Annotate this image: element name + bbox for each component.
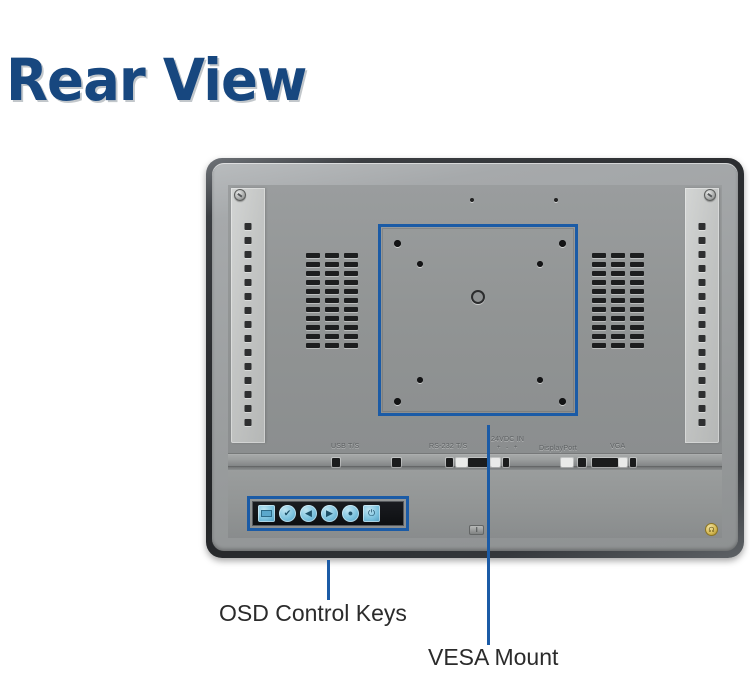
osd-control-highlight-box	[247, 496, 409, 531]
side-vent-hole	[699, 223, 706, 230]
vent-slot	[611, 334, 625, 339]
vent-slot	[592, 298, 606, 303]
vent-slot	[611, 298, 625, 303]
port-label-rs232: RS-232 T/S	[429, 443, 467, 450]
side-vent-hole	[245, 223, 252, 230]
vent-slot	[611, 325, 625, 330]
vent-slot	[344, 316, 358, 321]
right-vent-grid	[592, 253, 644, 348]
vent-slot	[592, 280, 606, 285]
vesa-hole-outer-tl	[394, 240, 401, 247]
port-label-power-pins: + - +	[497, 445, 519, 451]
side-vent-hole	[699, 391, 706, 398]
vent-slot	[592, 271, 606, 276]
connector-usb-2	[392, 458, 401, 467]
side-vent-hole	[245, 363, 252, 370]
vent-slot	[611, 253, 625, 258]
side-vent-hole	[699, 405, 706, 412]
side-vent-hole	[245, 293, 252, 300]
ground-terminal-icon: ☊	[705, 523, 718, 536]
vent-slot	[592, 289, 606, 294]
vent-slot	[611, 316, 625, 321]
vent-slot	[630, 280, 644, 285]
page-title: Rear View	[6, 46, 306, 114]
side-vent-hole	[245, 419, 252, 426]
vent-slot	[592, 253, 606, 258]
vent-slot	[306, 343, 320, 348]
vent-slot	[344, 334, 358, 339]
side-vent-hole	[245, 349, 252, 356]
connector-vga	[592, 458, 618, 467]
vent-slot	[306, 298, 320, 303]
vent-slot	[325, 271, 339, 276]
connector-displayport	[578, 458, 586, 467]
vesa-hole-outer-bl	[394, 398, 401, 405]
vent-slot	[592, 307, 606, 312]
side-vent-hole	[245, 279, 252, 286]
vent-slot	[325, 262, 339, 267]
vent-slot	[325, 316, 339, 321]
side-vent-hole	[699, 419, 706, 426]
side-vent-hole	[245, 321, 252, 328]
vent-slot	[630, 343, 644, 348]
vent-slot	[325, 334, 339, 339]
vent-slot	[325, 280, 339, 285]
vesa-leader-line	[487, 425, 490, 645]
bottom-center-mount	[469, 525, 484, 535]
page-canvas: Rear View	[0, 0, 750, 680]
vent-slot	[344, 307, 358, 312]
vent-slot	[630, 253, 644, 258]
vesa-hole-inner-br	[537, 377, 543, 383]
left-side-vent-strip	[231, 188, 265, 443]
side-vent-hole	[699, 251, 706, 258]
vent-slot	[325, 298, 339, 303]
vent-slot	[344, 325, 358, 330]
vent-slot	[630, 289, 644, 294]
vesa-hole-inner-tl	[417, 261, 423, 267]
side-vent-hole	[245, 377, 252, 384]
osd-leader-line	[327, 560, 330, 600]
vent-slot	[592, 262, 606, 267]
vent-slot	[592, 343, 606, 348]
vent-slot	[325, 253, 339, 258]
vent-slot	[592, 316, 606, 321]
vesa-hole-inner-tr	[537, 261, 543, 267]
vent-slot	[611, 262, 625, 267]
connector-power	[503, 458, 509, 467]
side-vent-hole	[245, 251, 252, 258]
vesa-center-hole	[471, 290, 485, 304]
left-vent-grid	[306, 253, 358, 348]
vent-slot	[611, 280, 625, 285]
vent-slot	[306, 280, 320, 285]
monitor-rear-illustration: USB T/S RS-232 T/S 24VDC IN + - + Displa…	[206, 158, 744, 558]
vent-slot	[630, 316, 644, 321]
side-vent-hole	[245, 405, 252, 412]
side-vent-hole	[699, 307, 706, 314]
right-side-vent-strip	[685, 188, 719, 443]
side-vent-hole	[245, 335, 252, 342]
vent-slot	[592, 325, 606, 330]
vent-slot	[611, 271, 625, 276]
vent-slot	[306, 289, 320, 294]
vent-slot	[325, 289, 339, 294]
side-vent-hole	[245, 307, 252, 314]
port-label-usb: USB T/S	[331, 443, 360, 450]
port-label-power: 24VDC IN	[491, 436, 524, 443]
vent-slot	[344, 262, 358, 267]
vent-slot	[344, 271, 358, 276]
connector-usb-1	[332, 458, 340, 467]
vesa-mount-highlight-box	[378, 224, 578, 416]
port-label-displayport: DisplayPort	[539, 445, 577, 452]
vent-slot	[630, 298, 644, 303]
screw-top-left	[234, 189, 246, 201]
connector-displayport-shell	[561, 458, 573, 467]
top-dot-right	[554, 198, 558, 202]
vent-slot	[344, 343, 358, 348]
connector-rs232-1	[446, 458, 453, 467]
side-vent-hole	[699, 321, 706, 328]
port-label-vga: VGA	[610, 443, 625, 450]
side-vent-hole	[699, 265, 706, 272]
vent-slot	[344, 280, 358, 285]
vent-slot	[325, 307, 339, 312]
side-vent-hole	[699, 377, 706, 384]
side-vent-hole	[699, 363, 706, 370]
vent-slot	[344, 289, 358, 294]
vent-slot	[306, 316, 320, 321]
vent-slot	[306, 307, 320, 312]
side-vent-hole	[699, 237, 706, 244]
vent-slot	[630, 307, 644, 312]
vent-slot	[611, 289, 625, 294]
vent-slot	[630, 334, 644, 339]
vent-slot	[611, 307, 625, 312]
connector-rs232-shell-2	[491, 458, 500, 467]
side-vent-hole	[245, 237, 252, 244]
side-vent-hole	[699, 293, 706, 300]
connector-vga-shell	[619, 458, 627, 467]
vesa-hole-outer-br	[559, 398, 566, 405]
callout-osd-control-keys: OSD Control Keys	[219, 600, 407, 627]
vent-slot	[630, 325, 644, 330]
vent-slot	[630, 262, 644, 267]
side-vent-hole	[699, 335, 706, 342]
side-vent-hole	[245, 265, 252, 272]
vent-slot	[306, 325, 320, 330]
vent-slot	[325, 325, 339, 330]
vent-slot	[630, 271, 644, 276]
screw-top-right	[704, 189, 716, 201]
vent-slot	[344, 298, 358, 303]
vent-slot	[306, 271, 320, 276]
vesa-hole-inner-bl	[417, 377, 423, 383]
vent-slot	[611, 343, 625, 348]
vesa-hole-outer-tr	[559, 240, 566, 247]
vent-slot	[306, 334, 320, 339]
vent-slot	[344, 253, 358, 258]
connector-rs232-shell	[456, 458, 467, 467]
side-vent-hole	[699, 349, 706, 356]
side-vent-hole	[245, 391, 252, 398]
vent-slot	[306, 262, 320, 267]
side-vent-hole	[699, 279, 706, 286]
vent-slot	[592, 334, 606, 339]
vent-slot	[306, 253, 320, 258]
connector-aux	[630, 458, 636, 467]
vent-slot	[325, 343, 339, 348]
callout-vesa-mount: VESA Mount	[428, 644, 558, 671]
top-dot-left	[470, 198, 474, 202]
